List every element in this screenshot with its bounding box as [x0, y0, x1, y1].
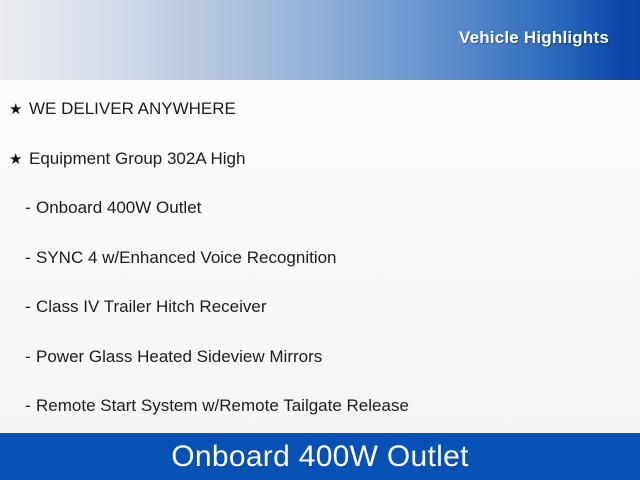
list-item-label: Remote Start System w/Remote Tailgate Re…: [36, 396, 409, 416]
list-item-label: Power Glass Heated Sideview Mirrors: [36, 347, 322, 367]
list-item-label: WE DELIVER ANYWHERE: [29, 99, 236, 119]
banner-caption: Onboard 400W Outlet: [171, 440, 469, 474]
list-item: -SYNC 4 w/Enhanced Voice Recognition: [0, 246, 640, 270]
list-item: ★WE DELIVER ANYWHERE: [0, 97, 640, 121]
list-item: -Class IV Trailer Hitch Receiver: [0, 295, 640, 319]
list-item: ★Equipment Group 302A High: [0, 147, 640, 171]
list-item: -Onboard 400W Outlet: [0, 196, 640, 220]
highlights-list: ★WE DELIVER ANYWHERE★Equipment Group 302…: [0, 80, 640, 433]
list-item-label: Class IV Trailer Hitch Receiver: [36, 297, 267, 317]
dash-bullet-icon: -: [25, 347, 36, 367]
star-bullet-icon: ★: [9, 102, 29, 117]
list-item-label: Onboard 400W Outlet: [36, 198, 201, 218]
list-item: -Power Glass Heated Sideview Mirrors: [0, 345, 640, 369]
list-item-label: SYNC 4 w/Enhanced Voice Recognition: [36, 248, 337, 268]
list-item: -Remote Start System w/Remote Tailgate R…: [0, 394, 640, 418]
dash-bullet-icon: -: [25, 198, 36, 218]
star-bullet-icon: ★: [9, 152, 29, 167]
dash-bullet-icon: -: [25, 297, 36, 317]
slide-header: Vehicle Highlights: [0, 0, 640, 80]
page-title: Vehicle Highlights: [459, 28, 609, 48]
dash-bullet-icon: -: [25, 248, 36, 268]
dash-bullet-icon: -: [25, 396, 36, 416]
vehicle-highlights-slide: Vehicle Highlights ★WE DELIVER ANYWHERE★…: [0, 0, 640, 480]
list-item-label: Equipment Group 302A High: [29, 149, 245, 169]
bottom-caption-banner: Onboard 400W Outlet: [0, 433, 640, 480]
